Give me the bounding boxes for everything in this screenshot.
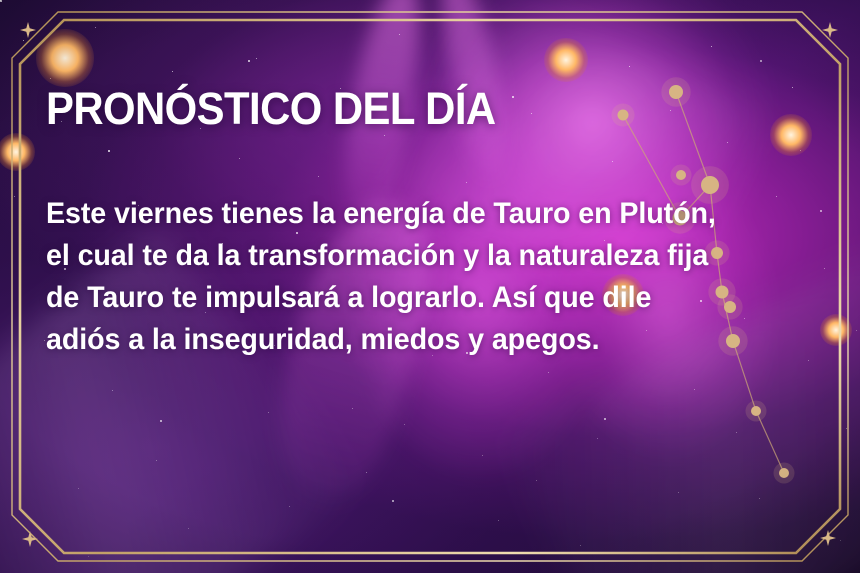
starfield-large (0, 0, 2, 2)
body-line-2: el cual te da la transformación y la nat… (46, 235, 800, 277)
body-line-3: de Tauro te impulsará a lograrlo. Así qu… (46, 277, 800, 319)
horoscope-poster: PRONÓSTICO DEL DÍA Este viernes tienes l… (0, 0, 860, 573)
body-line-1: Este viernes tienes la energía de Tauro … (46, 193, 800, 235)
poster-content: PRONÓSTICO DEL DÍA Este viernes tienes l… (46, 86, 836, 361)
body-line-4: adiós a la inseguridad, miedos y apegos. (46, 319, 800, 361)
page-title: PRONÓSTICO DEL DÍA (46, 86, 781, 131)
forecast-body: Este viernes tienes la energía de Tauro … (46, 193, 836, 361)
